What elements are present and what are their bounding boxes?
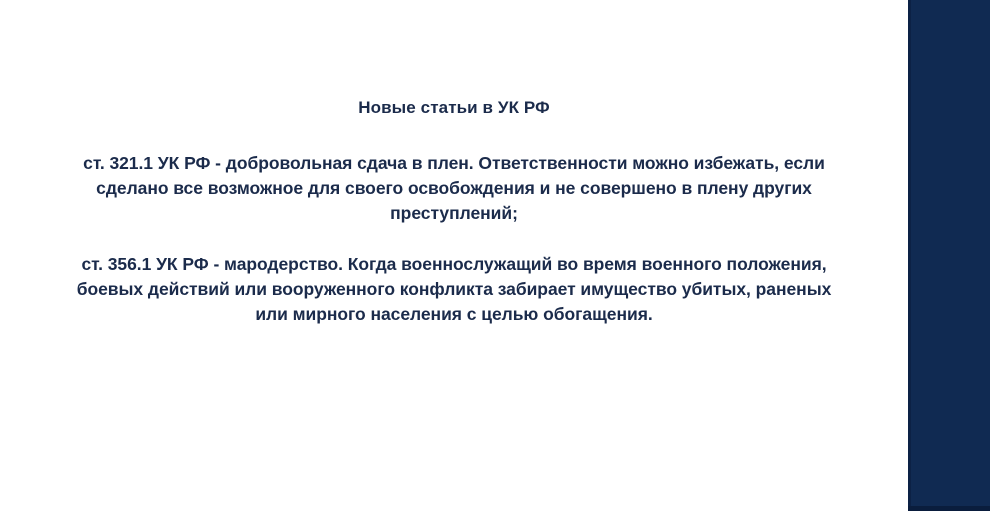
right-accent-band bbox=[908, 0, 990, 511]
paragraph-article-356-1: ст. 356.1 УК РФ - мародерство. Когда вое… bbox=[76, 252, 832, 327]
slide-canvas: Новые статьи в УК РФ ст. 321.1 УК РФ - д… bbox=[0, 0, 990, 511]
accent-band-edge bbox=[908, 0, 911, 511]
slide-content-area: Новые статьи в УК РФ ст. 321.1 УК РФ - д… bbox=[0, 0, 908, 511]
accent-band-footer-strip bbox=[908, 506, 990, 511]
page-title: Новые статьи в УК РФ bbox=[76, 96, 832, 120]
paragraph-article-321-1: ст. 321.1 УК РФ - добровольная сдача в п… bbox=[76, 151, 832, 226]
paragraph-gap bbox=[76, 226, 832, 252]
title-paragraph-spacer bbox=[76, 120, 832, 151]
